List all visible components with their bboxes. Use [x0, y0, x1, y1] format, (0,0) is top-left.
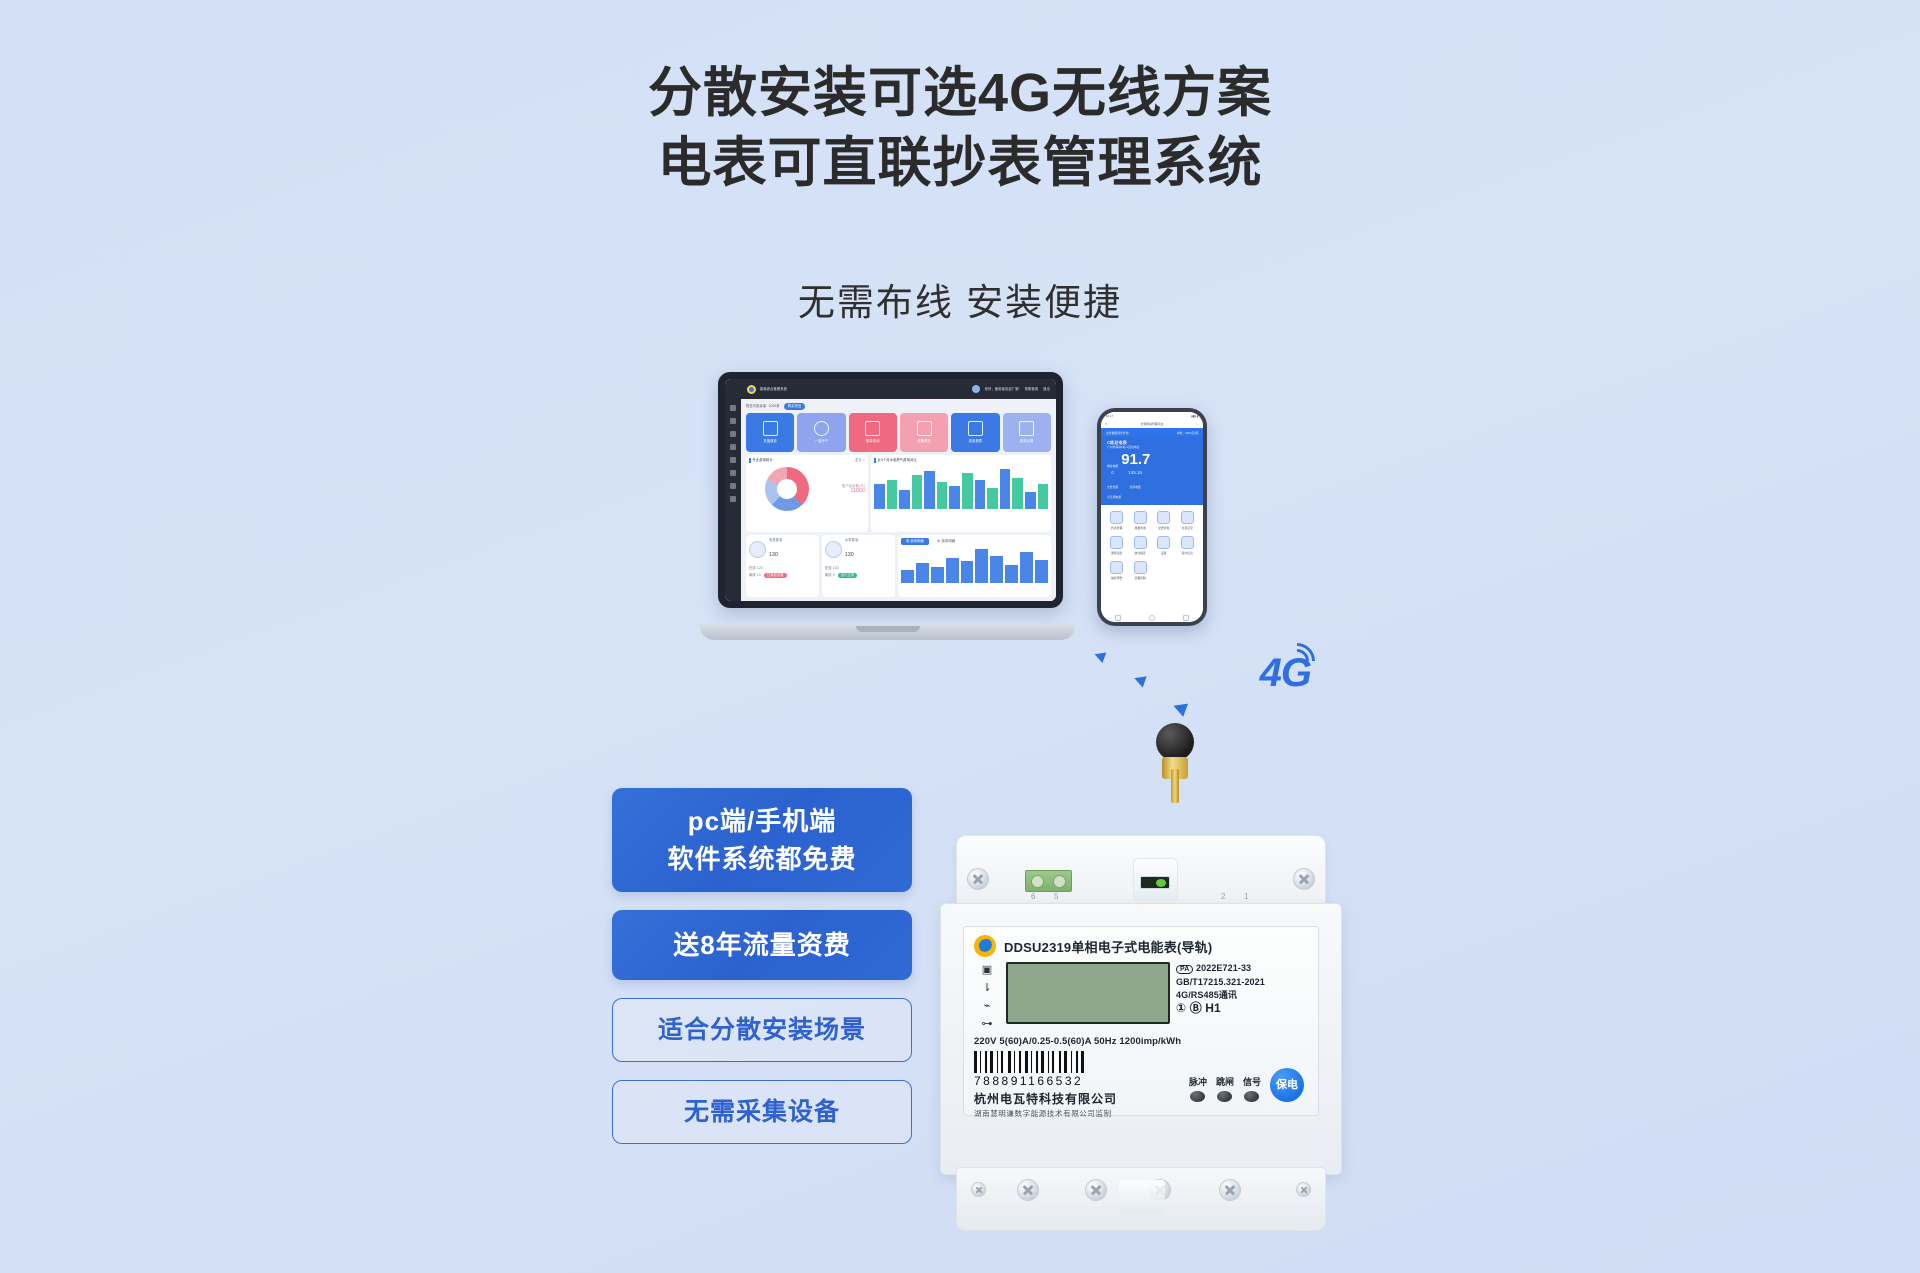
tile-reports-label: 费用报表 [969, 439, 983, 444]
meter-screw-bottom-6 [1296, 1182, 1311, 1197]
dashboard-cards-row: 专业费用统计 更多 > 账户总余额(元) 11000 [746, 455, 1051, 532]
nameplate-body: ▣ ⇂ ⌁ ⊶ PA 2022E721-33 GB/T17215.321-202… [974, 962, 1308, 1031]
phone-hero-stats: 0 欠费金额 145.15 月用电量 [1107, 471, 1197, 493]
bar [975, 480, 986, 509]
phone-subheader: 业务数据综合查询 单位：kWh/元/吨 [1101, 428, 1203, 437]
user-circle-icon [814, 421, 829, 436]
keep-power-button[interactable]: 保电 [1270, 1068, 1304, 1102]
page-headline: 分散安装可选4G无线方案 电表可直联抄表管理系统 [0, 58, 1920, 198]
phone-navbar: ✕ 智慧能耗管理平台 ⋯ [1101, 419, 1203, 428]
laptop-mockup: 能耗综合管理系统 你好，使用者欢迎厂家! 帮助使用 退出 短信可用余量: 100… [700, 372, 1075, 640]
dashboard-main: 短信可用余量: 1000条 购买短信 充值缴费 一键开户 [741, 399, 1056, 601]
hero-remaining-value: 91.7 [1121, 451, 1150, 468]
meter-reading-icon [1110, 511, 1123, 524]
accent-bar-2 [874, 458, 876, 463]
terminal-number-5: 5 [1054, 892, 1058, 901]
badge-free-software[interactable]: pc端/手机端 软件系统都免费 [612, 788, 912, 892]
tile-device-control[interactable]: 设备调控 [900, 413, 948, 452]
stat1-value: 0 [1107, 471, 1118, 475]
card-usage-compare: 近3个月水电燃气费用对比 [871, 455, 1051, 532]
meter-bottom-housing [956, 1167, 1326, 1231]
hero-meter-location: 广州市海珠C栋-1层总电表 [1107, 445, 1197, 449]
meter-front-panel: DDSU2319单相电子式电能表(导轨) ▣ ⇂ ⌁ ⊶ PA 2022E721… [940, 903, 1342, 1175]
stat1-label: 欠费金额 [1107, 485, 1118, 489]
headline-line-2: 电表可直联抄表管理系统 [0, 128, 1920, 198]
meter-button-group: 脉冲 跳闸 信号 保电 [1189, 1068, 1304, 1102]
meter-screw-bottom-1 [971, 1182, 986, 1197]
back-icon[interactable] [1183, 615, 1189, 621]
notification-icon [1110, 536, 1123, 549]
laptop-lid: 能耗综合管理系统 你好，使用者欢迎厂家! 帮助使用 退出 短信可用余量: 100… [718, 372, 1063, 608]
tile-recharge-label: 充值缴费 [763, 439, 777, 444]
tile-bill-query[interactable]: 账单查询 [849, 413, 897, 452]
meter-lcd-display [1006, 962, 1170, 1024]
phone-grid-item[interactable]: 设置 [1153, 536, 1175, 555]
phone-grid-item[interactable]: 统计报表 [1130, 536, 1152, 555]
app-logo-icon [747, 385, 756, 394]
phone-grid-item[interactable]: 通知消息 [1106, 536, 1128, 555]
meter-screw-bottom-2 [1017, 1179, 1039, 1201]
bar [1012, 478, 1023, 510]
card-fee-stats: 专业费用统计 更多 > 账户总余额(元) 11000 [746, 455, 868, 532]
sim-led-icon [1140, 876, 1170, 889]
badge-distributed-install-label: 适合分散安装场景 [623, 1016, 901, 1044]
signal-indicator: 4G [1085, 645, 1315, 760]
bar [937, 482, 948, 509]
terminal-port-5 [1053, 875, 1066, 888]
fault-report-icon [1110, 561, 1123, 574]
bar [1038, 484, 1049, 509]
brand-logo-icon [974, 935, 996, 957]
headline-line-1: 分散安装可选4G无线方案 [648, 63, 1272, 123]
buy-sms-button[interactable]: 购买短信 [784, 403, 806, 410]
electric-online: 在线 120 [749, 566, 816, 571]
card-fee-stats-header: 专业费用统计 更多 > [749, 458, 865, 463]
meter-spec-list: PA 2022E721-33 GB/T17215.321-2021 4G/RS4… [1176, 962, 1265, 1031]
statistics-icon [1134, 536, 1147, 549]
dashboard-topbar: 能耗综合管理系统 你好，使用者欢迎厂家! 帮助使用 退出 [741, 379, 1056, 399]
pulse-button-label: 脉冲 [1189, 1075, 1207, 1088]
phone-grid-item[interactable]: 客户信息 [1177, 536, 1199, 555]
meter-model-title: DDSU2319单相电子式电能表(导轨) [1004, 937, 1212, 956]
tile-open-account[interactable]: 一键开户 [797, 413, 845, 452]
promo-page: 分散安装可选4G无线方案 电表可直联抄表管理系统 无需布线 安装便捷 [0, 0, 1920, 1273]
meter-screw-bottom-3 [1085, 1179, 1107, 1201]
help-link[interactable]: 帮助使用 [1025, 387, 1039, 392]
phone-mockup: 10:17 ▮▮▮ ▮ ✕ 智慧能耗管理平台 ⋯ 业务数据综合查询 单位：kWh… [1097, 408, 1207, 626]
bar [916, 563, 929, 583]
bar [899, 490, 910, 509]
sim-card-slot [1133, 858, 1178, 900]
signal-chevron-2-icon [1132, 673, 1146, 688]
tile-keep-power-label: 保电设置 [1020, 439, 1034, 444]
double-insulation-icon: ▣ [979, 964, 995, 977]
bar [990, 556, 1003, 583]
remote-control-icon [1134, 561, 1147, 574]
trip-led-icon [1217, 1091, 1232, 1102]
phone-screen: 10:17 ▮▮▮ ▮ ✕ 智慧能耗管理平台 ⋯ 业务数据综合查询 单位：kWh… [1101, 412, 1203, 622]
bar [946, 558, 959, 583]
tile-open-account-label: 一键开户 [815, 439, 829, 444]
badge-no-collector[interactable]: 无需采集设备 [612, 1080, 912, 1144]
sidebar-icon-5[interactable] [730, 457, 736, 463]
stat2-label: 月用电量 [1129, 485, 1140, 489]
grid-label: 远程控制 [1135, 576, 1146, 580]
fee-detail-bar-chart [901, 545, 1048, 583]
hero-unit-label: 剩余电量 [1107, 464, 1118, 468]
shield-icon [1019, 421, 1034, 436]
sidebar-icon-2[interactable] [730, 418, 736, 424]
meter-screw-bottom-5 [1219, 1179, 1241, 1201]
bill-icon [865, 421, 880, 436]
close-icon[interactable]: ✕ [1105, 422, 1107, 426]
phone-sub-title: 业务数据综合查询 [1106, 431, 1128, 435]
phone-hero-card: C栋总电表 广州市海珠C栋-1层总电表 剩余电量 91.7 0 欠费金额 145… [1101, 437, 1203, 505]
tab-water-detail[interactable]: 水-费用明细 [932, 538, 960, 545]
pa-badge: PA [1176, 965, 1193, 974]
water-status-tag[interactable]: 运行正常 [838, 573, 858, 578]
card-usage-compare-title: 近3个月水电燃气费用对比 [878, 458, 917, 463]
phone-grid-item[interactable]: 远程控制 [1130, 561, 1152, 580]
bar [931, 567, 944, 583]
phone-grid-item[interactable]: 抄表管理 [1106, 511, 1128, 530]
spec-line-2: GB/T17215.321-2021 [1176, 976, 1265, 989]
electric-meter-icon [749, 541, 766, 558]
fee-donut-chart [765, 467, 809, 511]
recents-icon[interactable] [1115, 615, 1121, 621]
meter-screw-top-right [1293, 868, 1315, 890]
phone-grid-item[interactable]: 交费查询 [1153, 511, 1175, 530]
status-icons: ▮▮▮ ▮ [1191, 414, 1198, 418]
sidebar-icon-1[interactable] [730, 405, 736, 411]
water-meter-label: 水表数量 [845, 538, 859, 543]
badge-no-collector-label: 无需采集设备 [623, 1098, 901, 1126]
bar [874, 484, 885, 509]
tab-electric-detail[interactable]: 电-费用明细 [901, 538, 929, 545]
device-icon [917, 421, 932, 436]
electric-meter-label: 电表数量 [769, 538, 783, 543]
spec-line-4: ① Ⓑ H1 [1176, 1002, 1265, 1015]
pulse-led-icon [1190, 1091, 1205, 1102]
bar [1020, 552, 1033, 583]
water-meter-icon [825, 541, 842, 558]
phone-navigation-bar [1101, 614, 1203, 622]
status-time: 10:17 [1106, 414, 1113, 418]
phone-statusbar: 10:17 ▮▮▮ ▮ [1101, 412, 1203, 419]
dashboard-body: 能耗综合管理系统 你好，使用者欢迎厂家! 帮助使用 退出 短信可用余量: 100… [741, 379, 1056, 601]
payment-query-icon [1157, 511, 1170, 524]
logout-link[interactable]: 退出 [1043, 387, 1050, 392]
water-meter-count: 130 [845, 552, 854, 558]
terminal-number-6: 6 [1031, 892, 1035, 901]
phone-grid-item[interactable]: 故障申告 [1106, 561, 1128, 580]
card-usage-compare-header: 近3个月水电燃气费用对比 [874, 458, 1048, 463]
bar [987, 488, 998, 509]
switch-icon: ⌁ [979, 1000, 995, 1013]
meter-seal-cover [1119, 1180, 1165, 1214]
card-fee-detail: 电-费用明细 水-费用明细 [898, 535, 1051, 597]
user-greeting: 你好，使用者欢迎厂家! [985, 387, 1020, 392]
badge-free-data-plan-label: 送8年流量资费 [622, 926, 902, 964]
grid-label: 故障申告 [1111, 576, 1122, 580]
pulse-output-icon: ⇂ [979, 982, 995, 995]
electric-meter-count: 130 [769, 552, 778, 558]
bar [961, 561, 974, 583]
antenna-rod-icon [1171, 769, 1179, 803]
laptop-screen: 能耗综合管理系统 你好，使用者欢迎厂家! 帮助使用 退出 短信可用余量: 100… [725, 379, 1056, 601]
grid-label: 抄表管理 [1111, 526, 1122, 530]
rs485-terminal-block [1025, 870, 1072, 892]
app-title: 能耗综合管理系统 [760, 387, 787, 392]
phone-grid-item[interactable]: 用量查询 [1130, 511, 1152, 530]
meter-barcode [974, 1051, 1122, 1073]
signal-button[interactable]: 信号 [1243, 1075, 1261, 1102]
tile-reports[interactable]: 费用报表 [951, 413, 999, 452]
settings-icon [1157, 536, 1170, 549]
signal-chevron-1-icon [1093, 649, 1107, 663]
grid-label: 客户信息 [1182, 551, 1193, 555]
grid-label: 用量查询 [1135, 526, 1146, 530]
bar [887, 480, 898, 509]
trip-button[interactable]: 跳闸 [1216, 1075, 1234, 1102]
grid-label: 通知消息 [1111, 551, 1122, 555]
phone-sub-right: 单位：kWh/元/吨 [1177, 431, 1198, 435]
signal-button-label: 信号 [1243, 1075, 1261, 1088]
safety-symbols: ▣ ⇂ ⌁ ⊶ [974, 962, 1000, 1031]
transaction-icon [1181, 511, 1194, 524]
antenna-ball-icon [1156, 723, 1194, 761]
badge-distributed-install[interactable]: 适合分散安装场景 [612, 998, 912, 1062]
phone-body: 10:17 ▮▮▮ ▮ ✕ 智慧能耗管理平台 ⋯ 业务数据综合查询 单位：kWh… [1097, 408, 1207, 626]
bar [1025, 492, 1036, 509]
card-fee-stats-more[interactable]: 更多 > [855, 458, 865, 463]
grid-label: 交易记录 [1182, 526, 1193, 530]
dashboard-sidebar[interactable] [725, 379, 741, 601]
sidebar-icon-4[interactable] [730, 444, 736, 450]
bar [1035, 560, 1048, 583]
topbar-right: 你好，使用者欢迎厂家! 帮助使用 退出 [972, 385, 1050, 393]
dashboard: 能耗综合管理系统 你好，使用者欢迎厂家! 帮助使用 退出 短信可用余量: 100… [725, 379, 1056, 601]
energy-meter-device: 6 5 2 1 DDSU2319单相电子式电能表(导轨) ▣ ⇂ ⌁ [940, 815, 1340, 1245]
terminal-port-6 [1031, 875, 1044, 888]
meter-top-housing: 6 5 2 1 [956, 835, 1326, 911]
accent-bar [749, 458, 751, 463]
connection-icon: ⊶ [979, 1018, 995, 1031]
customer-info-icon [1181, 536, 1194, 549]
home-icon[interactable] [1149, 615, 1155, 621]
water-offline: 离线 0 [825, 573, 835, 578]
bar [975, 549, 988, 583]
laptop-notch [856, 626, 920, 632]
terminal-number-2: 2 [1221, 892, 1225, 901]
recharge-icon [763, 421, 778, 436]
sms-quota-text: 短信可用余量: 1000条 [746, 404, 780, 409]
usage-query-icon [1134, 511, 1147, 524]
terminal-number-1: 1 [1244, 892, 1248, 901]
stat2-value: 145.15 [1128, 471, 1142, 475]
water-online: 在线 130 [825, 566, 892, 571]
electric-offline: 离线 10 [749, 573, 761, 578]
spec-approval-number: 2022E721-33 [1196, 963, 1251, 973]
meter-screw-top-left [967, 868, 989, 890]
bar [901, 570, 914, 583]
meter-rating-line: 220V 5(60)A/0.25-0.5(60)A 50Hz 1200imp/k… [974, 1036, 1308, 1047]
dashboard-bottom-row: 电表数量 130 在线 120 离线 10 已离线设备 [746, 535, 1051, 597]
bar [949, 486, 960, 509]
sms-quota-row: 短信可用余量: 1000条 购买短信 [746, 403, 1051, 410]
bar [924, 471, 935, 509]
phone-function-grid: 抄表管理 用量查询 交费查询 交易记录 通知消息 统计报表 设置 客户信息 故障… [1101, 505, 1203, 614]
feature-badge-list: pc端/手机端 软件系统都免费 送8年流量资费 适合分散安装场景 无需采集设备 [612, 788, 912, 1144]
trip-button-label: 跳闸 [1216, 1075, 1234, 1088]
badge-free-software-line1: pc端/手机端 [622, 802, 902, 840]
bar [1005, 565, 1018, 583]
bar [1000, 469, 1011, 509]
pulse-button[interactable]: 脉冲 [1189, 1075, 1207, 1102]
card-electric-meters: 电表数量 130 在线 120 离线 10 已离线设备 [746, 535, 819, 597]
tile-recharge[interactable]: 充值缴费 [746, 413, 794, 452]
tile-device-control-label: 设备调控 [917, 439, 931, 444]
sidebar-icon-7[interactable] [730, 483, 736, 489]
bar [962, 473, 973, 509]
report-icon [968, 421, 983, 436]
spec-line-1: PA 2022E721-33 [1176, 962, 1265, 976]
page-subline: 无需布线 安装便捷 [0, 272, 1920, 326]
usage-compare-bar-chart [874, 465, 1048, 509]
tile-keep-power[interactable]: 保电设置 [1003, 413, 1051, 452]
badge-free-software-line2: 软件系统都免费 [622, 840, 902, 878]
sidebar-icon-6[interactable] [730, 470, 736, 476]
badge-free-data-plan[interactable]: 送8年流量资费 [612, 910, 912, 980]
card-water-meters: 水表数量 130 在线 130 离线 0 运行正常 [822, 535, 895, 597]
signal-chevron-3-icon [1171, 699, 1188, 717]
card-fee-stats-title: 专业费用统计 [753, 458, 773, 463]
phone-nav-title: 智慧能耗管理平台 [1141, 422, 1163, 426]
more-icon[interactable]: ⋯ [1196, 422, 1199, 426]
sidebar-icon-8[interactable] [730, 496, 736, 502]
bar [912, 475, 923, 509]
nameplate-header: DDSU2319单相电子式电能表(导轨) [974, 935, 1308, 957]
tile-bill-query-label: 账单查询 [866, 439, 880, 444]
grid-label: 设置 [1161, 551, 1167, 555]
grid-label: 交费查询 [1158, 526, 1169, 530]
avatar[interactable] [972, 385, 980, 393]
sim-led [1156, 879, 1166, 887]
hero-foot: 今日用电量 [1107, 495, 1197, 499]
grid-label: 统计报表 [1135, 551, 1146, 555]
signal-led-icon [1244, 1091, 1259, 1102]
laptop-base [700, 624, 1075, 640]
sidebar-icon-3[interactable] [730, 431, 736, 437]
total-balance-value: 11000 [842, 489, 865, 494]
electric-offline-tag[interactable]: 已离线设备 [764, 573, 787, 578]
phone-grid-item[interactable]: 交易记录 [1177, 511, 1199, 530]
meter-nameplate: DDSU2319单相电子式电能表(导轨) ▣ ⇂ ⌁ ⊶ PA 2022E721… [963, 926, 1319, 1116]
quick-action-tiles: 充值缴费 一键开户 账单查询 [746, 413, 1051, 452]
supervisor-company-name: 湖南慧明谦数字能源技术有限公司监制 [974, 1108, 1308, 1119]
